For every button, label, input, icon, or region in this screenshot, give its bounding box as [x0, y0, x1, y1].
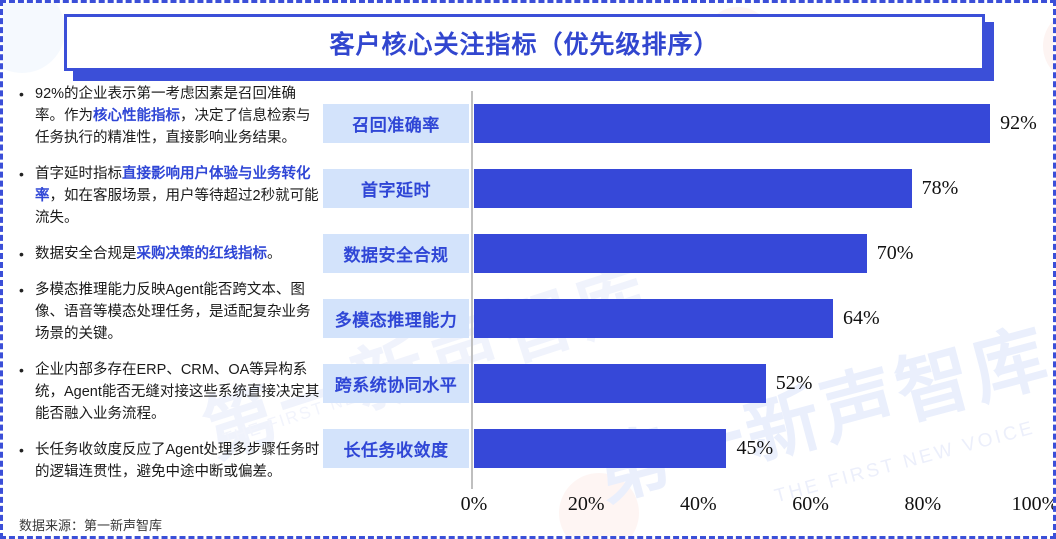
bar-value-label: 78% — [922, 169, 959, 208]
x-axis-tick-label: 80% — [904, 493, 941, 516]
bar — [474, 429, 726, 468]
x-axis-tick-label: 20% — [568, 493, 605, 516]
bar-category-label: 数据安全合规 — [323, 234, 469, 273]
bullet-list: •92%的企业表示第一考虑因素是召回准确率。作为核心性能指标，决定了信息检索与任… — [13, 83, 323, 497]
bar-row: 长任务收敛度45% — [323, 429, 1053, 468]
bar-category-label: 跨系统协同水平 — [323, 364, 469, 403]
bar — [474, 234, 867, 273]
bar-chart: 召回准确率92%首字延时78%数据安全合规70%多模态推理能力64%跨系统协同水… — [323, 91, 1053, 501]
x-axis-ticks: 0%20%40%60%80%100% — [323, 493, 1053, 523]
x-axis-tick-label: 40% — [680, 493, 717, 516]
highlighted-phrase: 采购决策的红线指标 — [137, 246, 268, 262]
list-item-text: 首字延时指标直接影响用户体验与业务转化率，如在客服场景，用户等待超过2秒就可能流… — [35, 163, 323, 229]
bullet-marker-icon: • — [13, 279, 35, 301]
x-axis-tick-label: 100% — [1012, 493, 1056, 516]
list-item-text: 多模态推理能力反映Agent能否跨文本、图像、语音等模态处理任务，是适配复杂业务… — [35, 279, 323, 345]
bar-row: 数据安全合规70% — [323, 234, 1053, 273]
highlighted-phrase: 核心性能指标 — [93, 108, 180, 124]
slide-canvas: 第一新声智库 THE FIRST NEW VOICE 第一新声智库 THE FI… — [0, 0, 1056, 539]
bullet-marker-icon: • — [13, 83, 35, 105]
bullet-marker-icon: • — [13, 243, 35, 265]
decorative-blob-top-left — [0, 0, 65, 73]
list-item-text: 92%的企业表示第一考虑因素是召回准确率。作为核心性能指标，决定了信息检索与任务… — [35, 83, 323, 149]
plain-phrase: ，如在客服场景，用户等待超过2秒就可能流失。 — [35, 188, 319, 226]
bar — [474, 364, 766, 403]
bar-category-label: 多模态推理能力 — [323, 299, 469, 338]
list-item: •首字延时指标直接影响用户体验与业务转化率，如在客服场景，用户等待超过2秒就可能… — [13, 163, 323, 229]
bar-row: 跨系统协同水平52% — [323, 364, 1053, 403]
list-item: •多模态推理能力反映Agent能否跨文本、图像、语音等模态处理任务，是适配复杂业… — [13, 279, 323, 345]
bar — [474, 299, 833, 338]
list-item-text: 企业内部多存在ERP、CRM、OA等异构系统，Agent能否无缝对接这些系统直接… — [35, 359, 323, 425]
bar-rows: 召回准确率92%首字延时78%数据安全合规70%多模态推理能力64%跨系统协同水… — [323, 91, 1053, 489]
bar-row: 多模态推理能力64% — [323, 299, 1053, 338]
title-box: 客户核心关注指标（优先级排序） — [64, 14, 985, 71]
bar-category-label: 长任务收敛度 — [323, 429, 469, 468]
y-axis-line — [471, 91, 473, 489]
bar — [474, 169, 912, 208]
plain-phrase: 长任务收敛度反应了Agent处理多步骤任务时的逻辑连贯性，避免中途中断或偏差。 — [35, 442, 319, 480]
bar-row: 首字延时78% — [323, 169, 1053, 208]
bar-value-label: 45% — [736, 429, 773, 468]
x-axis-tick-label: 0% — [461, 493, 488, 516]
bar-value-label: 92% — [1000, 104, 1037, 143]
list-item: •企业内部多存在ERP、CRM、OA等异构系统，Agent能否无缝对接这些系统直… — [13, 359, 323, 425]
plain-phrase: 数据安全合规是 — [35, 246, 137, 262]
x-axis-tick-label: 60% — [792, 493, 829, 516]
bar-row: 召回准确率92% — [323, 104, 1053, 143]
bullet-marker-icon: • — [13, 163, 35, 185]
bar-category-label: 召回准确率 — [323, 104, 469, 143]
bar-value-label: 64% — [843, 299, 880, 338]
list-item: •长任务收敛度反应了Agent处理多步骤任务时的逻辑连贯性，避免中途中断或偏差。 — [13, 439, 323, 483]
page-title: 客户核心关注指标（优先级排序） — [329, 25, 719, 61]
bar — [474, 104, 990, 143]
bar-value-label: 52% — [776, 364, 813, 403]
plain-phrase: 企业内部多存在ERP、CRM、OA等异构系统，Agent能否无缝对接这些系统直接… — [35, 362, 319, 422]
data-source-note: 数据来源：第一新声智库 — [19, 515, 162, 534]
list-item-text: 数据安全合规是采购决策的红线指标。 — [35, 243, 323, 265]
plain-phrase: 。 — [267, 246, 282, 262]
decorative-blob-top-right — [1043, 9, 1056, 83]
plain-phrase: 多模态推理能力反映Agent能否跨文本、图像、语音等模态处理任务，是适配复杂业务… — [35, 282, 311, 342]
plain-phrase: 首字延时指标 — [35, 166, 122, 182]
list-item: •92%的企业表示第一考虑因素是召回准确率。作为核心性能指标，决定了信息检索与任… — [13, 83, 323, 149]
list-item: •数据安全合规是采购决策的红线指标。 — [13, 243, 323, 265]
bar-category-label: 首字延时 — [323, 169, 469, 208]
list-item-text: 长任务收敛度反应了Agent处理多步骤任务时的逻辑连贯性，避免中途中断或偏差。 — [35, 439, 323, 483]
bar-value-label: 70% — [877, 234, 914, 273]
bullet-marker-icon: • — [13, 439, 35, 461]
bullet-marker-icon: • — [13, 359, 35, 381]
